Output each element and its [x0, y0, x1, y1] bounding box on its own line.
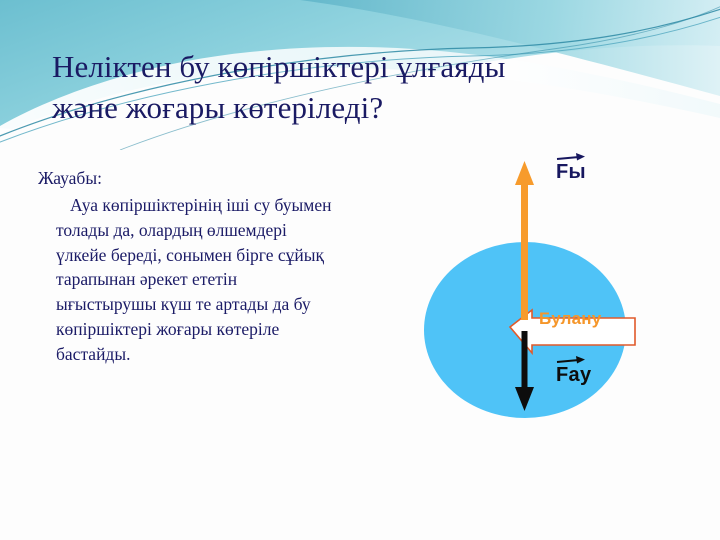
answer-label: Жауабы: [38, 166, 338, 191]
slide-canvas: Неліктен бу көпіршіктері ұлғаяды және жо… [0, 0, 720, 540]
label-buoyant-force: Fы [556, 161, 586, 184]
label-evaporation: Булану [539, 309, 601, 329]
page-title: Неліктен бу көпіршіктері ұлғаяды және жо… [52, 46, 672, 128]
label-gravity-force: Fау [556, 364, 591, 387]
answer-block: Жауабы: Ауа көпіршіктерінің іші су буыме… [38, 166, 338, 367]
bubble-force-diagram [420, 145, 720, 435]
buoyant-arrow-overlap [521, 308, 528, 320]
answer-paragraph: Ауа көпіршіктерінің іші су буымен толады… [38, 193, 338, 367]
gravity-arrow-overlap [522, 331, 528, 355]
